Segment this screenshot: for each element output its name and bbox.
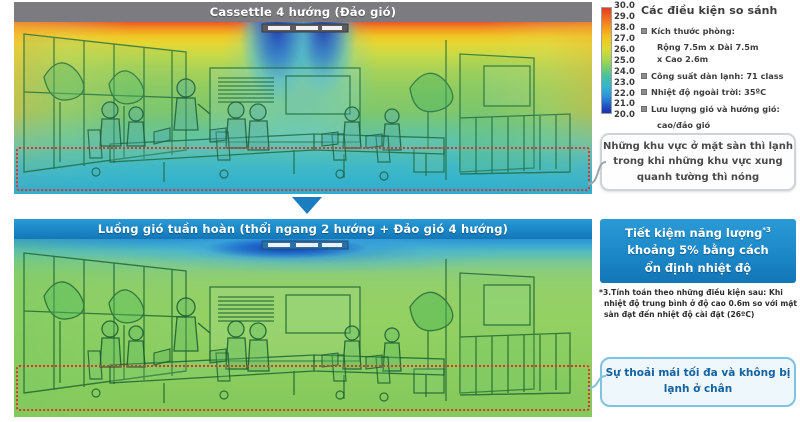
legend-subline: x Cao 2.6m bbox=[641, 54, 799, 65]
panel1-thermal-scene bbox=[14, 22, 592, 194]
savings-line2: khoảng 5% bằng cách bbox=[627, 243, 768, 257]
legend-item-label: Lưu lượng gió và hướng gió: bbox=[651, 104, 780, 115]
legend-item-outdoor-temp: Nhiệt độ ngoài trời: 35ºC bbox=[641, 87, 799, 98]
scale-tick: 27.0 bbox=[614, 35, 638, 44]
savings-footnote-marker: *3 bbox=[762, 226, 771, 234]
callout-cold-floor-hot-walls: Những khu vực ở mặt sàn thì lạnh trong k… bbox=[600, 133, 796, 191]
legend-subline: cao/đảo gió bbox=[641, 120, 799, 131]
legend-item-label: Kích thước phòng: bbox=[651, 26, 735, 37]
legend-item-label: Nhiệt độ ngoài trời: 35ºC bbox=[651, 87, 766, 98]
legend-item-airflow: Lưu lượng gió và hướng gió: bbox=[641, 104, 799, 115]
savings-line3: ổn định nhiệt độ bbox=[645, 261, 751, 275]
scale-tick: 26.0 bbox=[614, 46, 638, 55]
ceiling-cassette-unit-panel2 bbox=[262, 241, 348, 249]
panel2-thermal-scene bbox=[14, 239, 592, 417]
savings-line1: Tiết kiệm năng lượng bbox=[625, 226, 762, 240]
energy-savings-text: Tiết kiệm năng lượng*3 khoảng 5% bằng cá… bbox=[625, 225, 771, 277]
panel-circulation-airflow: Luồng gió tuần hoàn (thổi ngang 2 hướng … bbox=[14, 219, 592, 417]
scale-tick: 25.0 bbox=[614, 57, 638, 66]
scale-tick: 22.0 bbox=[614, 90, 638, 99]
panel1-room-linework bbox=[14, 22, 592, 194]
scale-tick: 28.0 bbox=[614, 24, 638, 33]
callout-connector-bottom bbox=[586, 368, 608, 392]
square-bullet-icon bbox=[641, 89, 647, 95]
panel2-title: Luồng gió tuần hoàn (thổi ngang 2 hướng … bbox=[14, 219, 592, 239]
square-bullet-icon bbox=[641, 28, 647, 34]
legend-item-capacity: Công suất dàn lạnh: 71 class bbox=[641, 71, 799, 82]
callout-bottom-text: Sự thoải mái tối đa và không bị lạnh ở c… bbox=[602, 366, 794, 398]
scale-tick: 23.0 bbox=[614, 79, 638, 88]
legend-title: Các điều kiện so sánh bbox=[641, 4, 799, 17]
callout-top-text: Những khu vực ở mặt sàn thì lạnh trong k… bbox=[602, 139, 794, 185]
temperature-colorbar-ticks: 30.0 29.0 28.0 27.0 26.0 25.0 24.0 23.0 … bbox=[614, 2, 638, 120]
scale-tick: 20.0 bbox=[614, 111, 638, 120]
legend-subline: Rộng 7.5m x Dài 7.5m bbox=[641, 42, 799, 53]
footnote-text: *3.Tính toán theo những điều kiện sau: K… bbox=[599, 288, 799, 320]
callout-connector-top bbox=[586, 150, 608, 186]
ceiling-cassette-unit-panel1 bbox=[262, 24, 348, 32]
scale-tick: 29.0 bbox=[614, 13, 638, 22]
scale-tick: 30.0 bbox=[614, 2, 638, 11]
scale-tick: 24.0 bbox=[614, 68, 638, 77]
square-bullet-icon bbox=[641, 73, 647, 79]
comparison-conditions-legend: Các điều kiện so sánh Kích thước phòng: … bbox=[641, 4, 799, 131]
square-bullet-icon bbox=[641, 106, 647, 112]
energy-savings-box: Tiết kiệm năng lượng*3 khoảng 5% bằng cá… bbox=[600, 219, 796, 283]
panel1-title: Cassettle 4 hướng (Đảo gió) bbox=[14, 2, 592, 22]
panel2-room-linework bbox=[14, 239, 592, 417]
callout-max-comfort: Sự thoải mái tối đa và không bị lạnh ở c… bbox=[600, 357, 796, 407]
infographic-root: Cassettle 4 hướng (Đảo gió) bbox=[0, 0, 800, 422]
legend-item-room-size: Kích thước phòng: bbox=[641, 26, 799, 37]
down-arrow-icon bbox=[292, 197, 322, 214]
panel-cassette-4way: Cassettle 4 hướng (Đảo gió) bbox=[14, 2, 592, 194]
scale-tick: 21.0 bbox=[614, 100, 638, 109]
temperature-colorbar bbox=[601, 7, 612, 114]
legend-item-label: Công suất dàn lạnh: 71 class bbox=[651, 71, 784, 82]
